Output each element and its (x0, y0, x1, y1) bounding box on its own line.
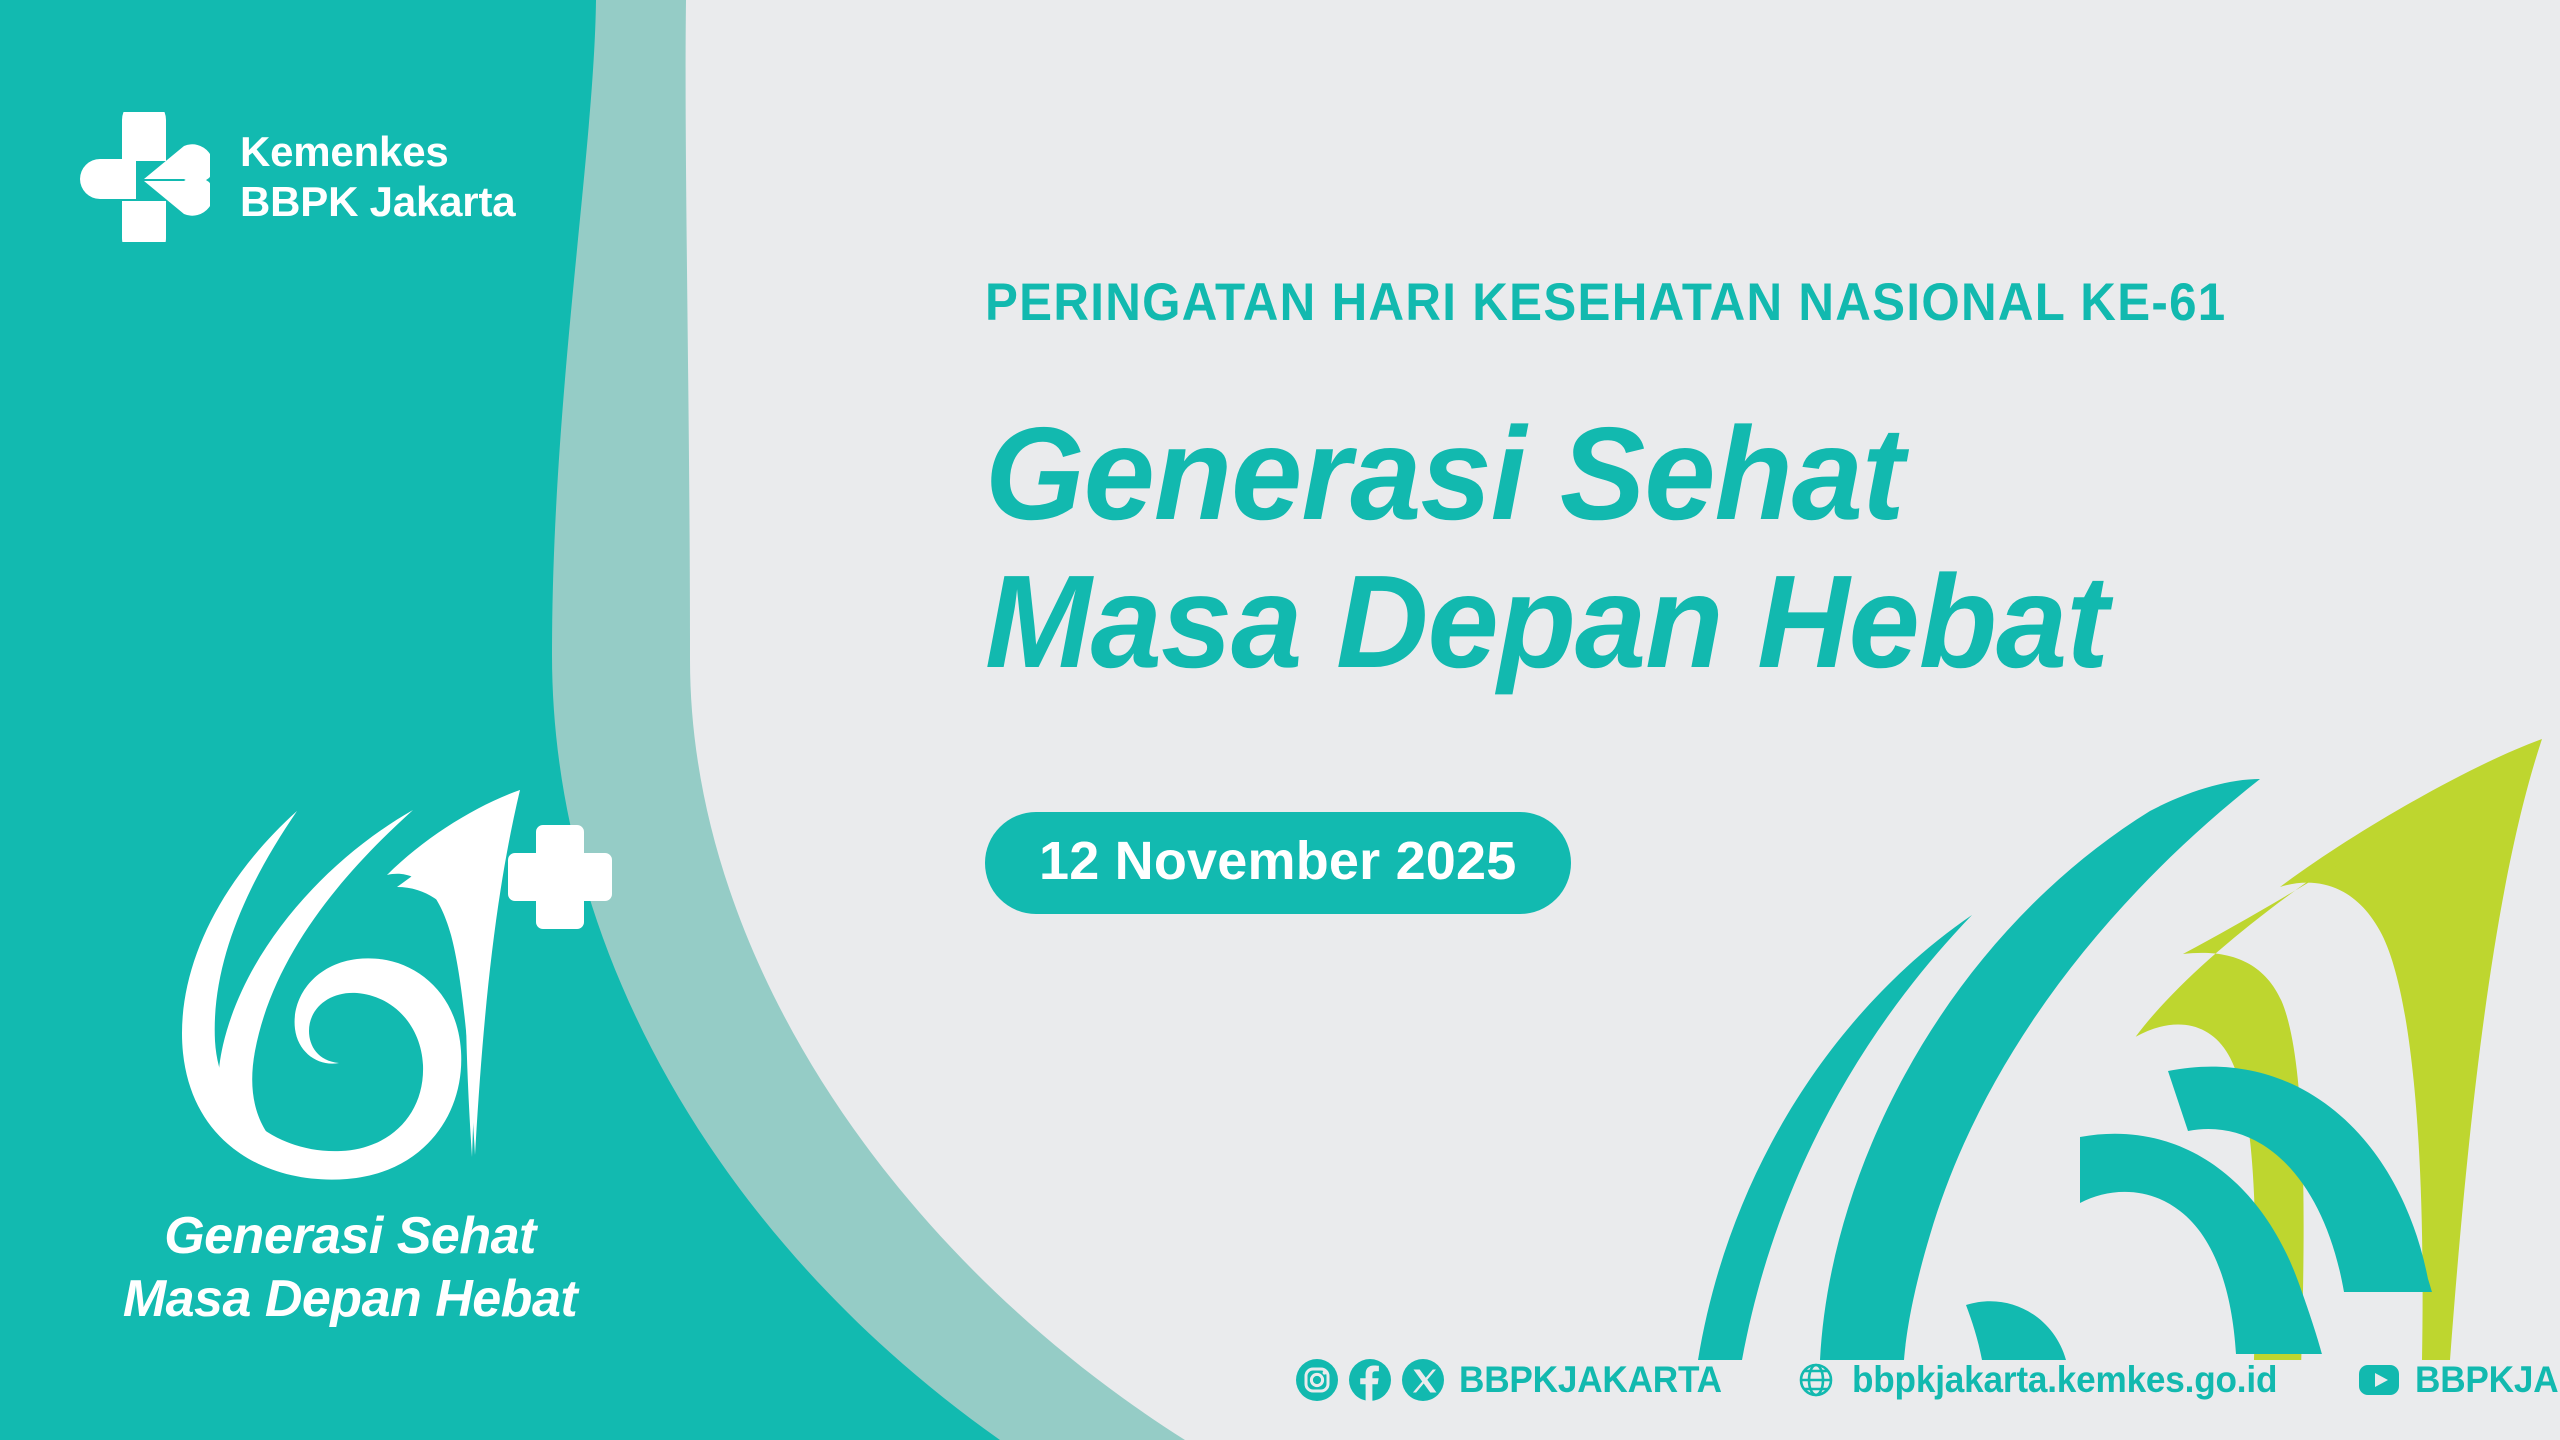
instagram-icon[interactable] (1295, 1358, 1339, 1402)
anniversary-61-decoration (1680, 735, 2560, 1360)
kemenkes-wordmark-line2: BBPK Jakarta (240, 177, 515, 227)
kemenkes-wordmark: Kemenkes BBPK Jakarta (240, 127, 515, 226)
footer-social-icons (1295, 1358, 1445, 1402)
emblem-tagline-line1: Generasi Sehat (0, 1205, 700, 1268)
footer-social-handle[interactable]: BBPKJAKARTA (1459, 1359, 1722, 1401)
footer-youtube-group[interactable]: BBPKJAKARTATV (2357, 1358, 2560, 1402)
anniversary-61-decorative-graphic-icon (1680, 735, 2560, 1360)
footer-website-url[interactable]: bbpkjakarta.kemkes.go.id (1852, 1359, 2277, 1401)
page-title: Generasi Sehat Masa Depan Hebat (985, 400, 2108, 696)
emblem-tagline-line2: Masa Depan Hebat (0, 1268, 700, 1331)
footer-youtube-channel[interactable]: BBPKJAKARTATV (2415, 1359, 2560, 1401)
anniversary-61-emblem (175, 765, 615, 1185)
footer-social-bar: BBPKJAKARTA bbpkjakarta.kemkes.go.id BBP… (1295, 1358, 2560, 1402)
x-twitter-icon[interactable] (1401, 1358, 1445, 1402)
kemenkes-brand-lockup: Kemenkes BBPK Jakarta (78, 112, 515, 242)
event-date-badge: 12 November 2025 (985, 812, 1571, 914)
youtube-icon[interactable] (2357, 1358, 2401, 1402)
emblem-tagline: Generasi Sehat Masa Depan Hebat (0, 1205, 700, 1332)
kemenkes-flower-logo-icon (78, 112, 210, 242)
footer-website-group[interactable]: bbpkjakarta.kemkes.go.id (1794, 1358, 2300, 1402)
event-eyebrow-title: PERINGATAN HARI KESEHATAN NASIONAL KE-61 (985, 272, 2227, 333)
kemenkes-wordmark-line1: Kemenkes (240, 127, 515, 177)
headline-line1: Generasi Sehat (985, 400, 2108, 548)
headline-line2: Masa Depan Hebat (985, 548, 2108, 696)
footer-social-group[interactable]: BBPKJAKARTA (1295, 1358, 1736, 1402)
event-banner: Kemenkes BBPK Jakarta Generasi Sehat (0, 0, 2560, 1440)
anniversary-61-logo-icon (175, 765, 615, 1185)
globe-icon[interactable] (1794, 1358, 1838, 1402)
facebook-icon[interactable] (1348, 1358, 1392, 1402)
